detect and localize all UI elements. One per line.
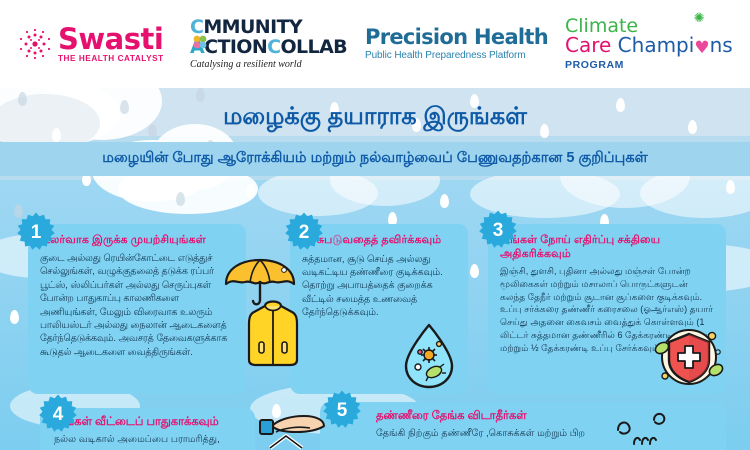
page-subtitle: மழையின் போது ஆரோக்கியம் மற்றும் நல்வாழ்வ… <box>102 150 647 168</box>
raindrop-icon <box>470 264 479 278</box>
tip-card-3-title: உங்கள் நோய் எதிர்ப்பு சக்தியை அதிகரிக்கவ… <box>500 234 714 261</box>
tip-number-badge-4: 4 <box>38 394 78 434</box>
raindrop-icon <box>246 184 255 198</box>
tip-card-2-body: சுத்தமான, சூடு செய்த அல்லது வடிகட்டிய தண… <box>302 252 456 319</box>
raindrop-icon <box>440 194 449 208</box>
climate-care-champions-logo: Climate ✺ Care Champi♥ns PROGRAM <box>565 0 750 88</box>
tip-number-3: 3 <box>493 221 504 240</box>
ccc-ns-text: ns <box>710 33 733 57</box>
raindrop-icon <box>10 310 19 324</box>
precision-health-logo: Precision Health Public Health Preparedn… <box>365 0 565 88</box>
cac-line2: ACTIONCOLLAB <box>190 38 347 57</box>
swasti-wordmark: Swasti <box>58 25 164 54</box>
raindrop-icon <box>176 192 185 206</box>
cac-line2-c: C <box>267 36 280 58</box>
tip-card-4-body: நல்ல வடிகால் அமைப்பை பராமரித்து, <box>54 433 243 447</box>
tip-number-badge-2: 2 <box>284 212 324 252</box>
cac-line2-ction: CTION <box>204 36 267 58</box>
tip-number-5: 5 <box>337 401 348 420</box>
raincoat-icon <box>246 296 300 368</box>
tip-card-1-title: உலர்வாக இருக்க முயற்சியுங்கள் <box>40 234 234 248</box>
raindrop-icon <box>726 180 735 194</box>
tip-number-badge-1: 1 <box>16 212 56 252</box>
tip-number-badge-3: 3 <box>478 210 518 250</box>
logo-bar: Swasti THE HEALTH CATALYST CMMUNITY <box>0 0 750 88</box>
dot-mandala-icon <box>18 27 52 61</box>
tip-card-1-body: குடை அல்லது ரெயின்கோட்டை எடுத்துச் செல்ல… <box>40 252 234 360</box>
tip-card-4-title: உங்கள் வீட்டைப் பாதுகாக்கவும் <box>54 416 243 430</box>
ccc-program-label: PROGRAM <box>565 59 733 71</box>
cac-tagline: Catalysing a resilient world <box>190 59 347 70</box>
heart-icon: ♥ <box>694 40 709 57</box>
page-title: மழைக்கு தயாராக இருங்கள் <box>223 103 527 133</box>
precision-health-wordmark: Precision Health <box>365 27 548 48</box>
cac-line2-ollab: OLLAB <box>281 36 348 58</box>
ccc-line-climate: Climate ✺ <box>565 17 733 35</box>
swasti-tagline: THE HEALTH CATALYST <box>58 55 164 63</box>
community-action-collab-logo: CMMUNITY ACTIONCOLLAB Catalysing a resil… <box>190 0 365 88</box>
leaf-sprout-icon: ✺ <box>694 13 705 25</box>
infographic-poster: Swasti THE HEALTH CATALYST CMMUNITY <box>0 0 750 450</box>
contaminated-water-droplet-icon <box>398 322 460 390</box>
tip-number-2: 2 <box>299 223 310 242</box>
ccc-climate-text: Climate <box>565 15 638 37</box>
mosquito-icon <box>612 408 682 450</box>
protecting-hands-icon <box>246 408 326 450</box>
colorful-dots-icon <box>192 34 209 51</box>
swasti-logo: Swasti THE HEALTH CATALYST <box>0 0 190 88</box>
precision-health-tagline: Public Health Preparedness Platform <box>365 50 548 61</box>
subtitle-band: மழையின் போது ஆரோக்கியம் மற்றும் நல்வாழ்வ… <box>0 142 750 176</box>
tip-card-2-title: மாசுபடுவதைத் தவிர்க்கவும் <box>302 234 456 248</box>
title-band: மழைக்கு தயாராக இருங்கள் <box>0 94 750 142</box>
tip-number-badge-5: 5 <box>322 390 362 430</box>
immunity-shield-icon <box>652 322 726 392</box>
tip-number-1: 1 <box>31 223 42 242</box>
ccc-line-care-champions: Care Champi♥ns <box>565 35 733 57</box>
tip-number-4: 4 <box>53 405 64 424</box>
tip-card-1: உலர்வாக இருக்க முயற்சியுங்கள் குடை அல்லத… <box>28 224 246 394</box>
